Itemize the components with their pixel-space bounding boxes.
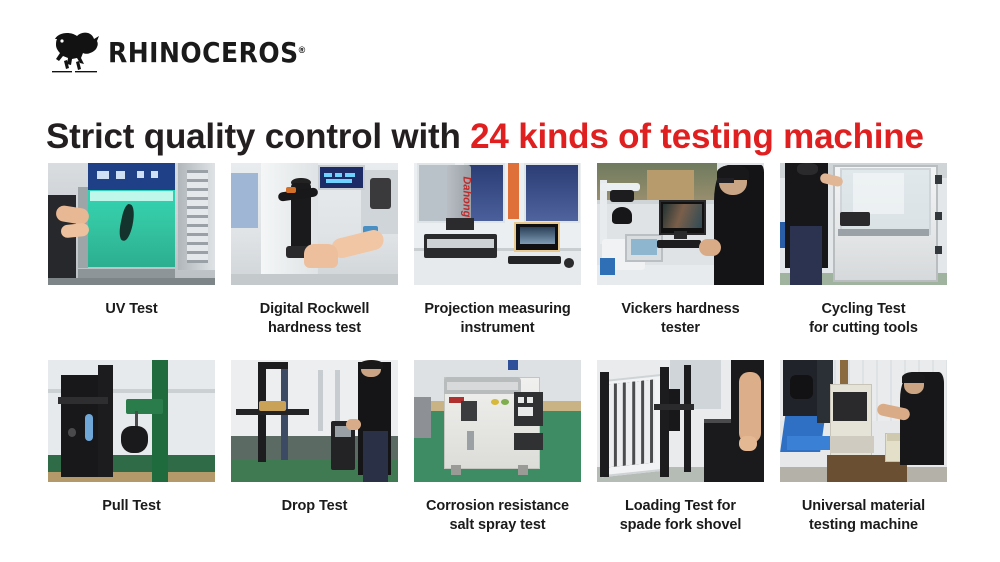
universal-material-testing-machine-photo bbox=[780, 360, 947, 482]
gallery-item-digital-rockwell-hardness-test[interactable]: Digital Rockwellhardness test bbox=[231, 163, 398, 338]
uv-test-photo bbox=[48, 163, 215, 285]
rhinoceros-logo-icon bbox=[48, 27, 112, 73]
page-title: Strict quality control with 24 kinds of … bbox=[46, 115, 966, 159]
gallery-item-caption: Universal materialtesting machine bbox=[802, 497, 925, 535]
gallery-item-caption: Cycling Testfor cutting tools bbox=[809, 300, 918, 338]
gallery-item-caption: Loading Test forspade fork shovel bbox=[620, 497, 742, 535]
vickers-hardness-tester-photo bbox=[597, 163, 764, 285]
gallery-item-caption: Digital Rockwellhardness test bbox=[260, 300, 370, 338]
drop-test-photo bbox=[231, 360, 398, 482]
slide-root: RHINOCEROS ® Strict quality control with… bbox=[0, 0, 1000, 562]
brand-logo: RHINOCEROS ® bbox=[48, 26, 305, 74]
gallery-row: UV Test bbox=[48, 163, 953, 338]
gallery-item-cycling-test-for-cutting-tools[interactable]: Cycling Testfor cutting tools bbox=[780, 163, 947, 338]
page-title-accent: 24 kinds of testing machine bbox=[470, 117, 924, 156]
loading-test-for-spade-fork-shovel-photo bbox=[597, 360, 764, 482]
gallery-item-pull-test[interactable]: Pull Test bbox=[48, 360, 215, 535]
gallery-item-drop-test[interactable]: Drop Test bbox=[231, 360, 398, 535]
cycling-test-for-cutting-tools-photo bbox=[780, 163, 947, 285]
gallery-item-corrosion-resistance-salt-spray-test[interactable]: Corrosion resistancesalt spray test bbox=[414, 360, 581, 535]
gallery-item-caption: Projection measuringinstrument bbox=[424, 300, 570, 338]
brand-wordmark: RHINOCEROS bbox=[108, 38, 299, 66]
projection-measuring-instrument-photo: Dahong bbox=[414, 163, 581, 285]
gallery-item-vickers-hardness-tester[interactable]: Vickers hardnesstester bbox=[597, 163, 764, 338]
page-title-lead: Strict quality control with bbox=[46, 117, 470, 156]
gallery-item-caption: UV Test bbox=[105, 300, 157, 319]
gallery-item-caption: Vickers hardnesstester bbox=[621, 300, 739, 338]
gallery-item-loading-test-for-spade-fork-shovel[interactable]: Loading Test forspade fork shovel bbox=[597, 360, 764, 535]
gallery-item-caption: Corrosion resistancesalt spray test bbox=[426, 497, 569, 535]
corrosion-resistance-salt-spray-test-photo bbox=[414, 360, 581, 482]
gallery-item-projection-measuring-instrument[interactable]: Dahong Projection measuringinstrument bbox=[414, 163, 581, 338]
gallery-item-universal-material-testing-machine[interactable]: Universal materialtesting machine bbox=[780, 360, 947, 535]
gallery-row: Pull Test bbox=[48, 360, 953, 535]
gallery-item-uv-test[interactable]: UV Test bbox=[48, 163, 215, 338]
digital-rockwell-hardness-test-photo bbox=[231, 163, 398, 285]
testing-machine-gallery: UV Test bbox=[48, 163, 953, 535]
gallery-item-caption: Drop Test bbox=[282, 497, 348, 516]
pull-test-photo bbox=[48, 360, 215, 482]
registered-trademark-icon: ® bbox=[299, 45, 306, 55]
gallery-item-caption: Pull Test bbox=[102, 497, 160, 516]
